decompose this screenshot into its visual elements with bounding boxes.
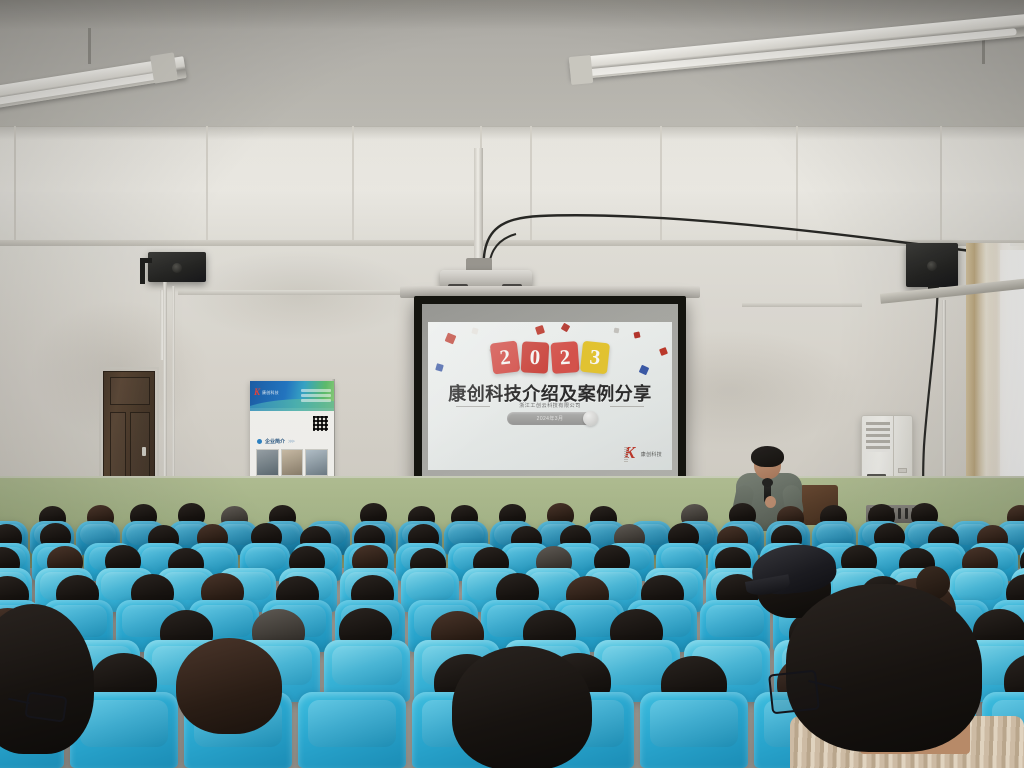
slide-logo-text: 康创科技: [641, 451, 662, 458]
soffit-seam: [352, 126, 354, 246]
slide-pill-knob: [583, 411, 598, 426]
speaker-cone-icon: [172, 263, 182, 273]
confetti-square-2: [535, 325, 545, 335]
banner-logo-text: 康创科技: [262, 390, 279, 396]
wall-conduit-horizontal: [178, 290, 428, 295]
presentation-slide: 2023 康创科技介绍及案例分享 浙江工创云科技有限公司 2024年3月 康创科…: [428, 322, 672, 470]
projection-screen-surface: 2023 康创科技介绍及案例分享 浙江工创云科技有限公司 2024年3月 康创科…: [422, 304, 678, 484]
soffit-seam: [206, 126, 208, 246]
slide-year-tiles: 2023: [492, 342, 609, 373]
wall-conduit-horizontal: [742, 302, 862, 307]
ac-control-button[interactable]: [898, 468, 907, 473]
year-tile-1: 0: [521, 341, 550, 373]
door-knob[interactable]: [142, 447, 146, 456]
subtitle-rule-right: [610, 406, 644, 407]
confetti-square-8: [435, 363, 444, 372]
light-end-cap: [150, 52, 178, 83]
microphone-head-icon: [762, 478, 773, 487]
presenter-hair: [751, 446, 784, 467]
speaker-bracket: [140, 258, 145, 284]
chevron-right-icon: >>>: [288, 439, 294, 445]
confetti-square-3: [561, 323, 571, 333]
banner-photo: [305, 449, 328, 476]
company-k-mark-icon: [624, 446, 639, 462]
light-end-cap: [569, 55, 594, 85]
door-panel: [110, 377, 150, 405]
banner-heading-text: 企业简介: [265, 438, 285, 445]
slide-date-pill: 2024年3月: [507, 412, 593, 425]
banner-photo-strip: [256, 449, 328, 476]
confetti-square-4: [614, 328, 620, 334]
confetti-square-6: [639, 365, 650, 376]
light-rod: [88, 28, 91, 64]
banner-k-mark-icon: K: [254, 388, 260, 397]
wall-speaker-right: [906, 243, 958, 287]
fluorescent-tube: [569, 14, 1024, 80]
auditorium-seat: [640, 692, 748, 768]
audience-head-mid-left: [176, 638, 282, 734]
eyeglasses-right: [768, 670, 820, 715]
subtitle-rule-left: [456, 406, 490, 407]
soffit-seam: [14, 126, 16, 246]
qr-code-icon: [312, 415, 329, 432]
banner-photo: [256, 449, 279, 476]
auditorium-photo: 2023 康创科技介绍及案例分享 浙江工创云科技有限公司 2024年3月 康创科…: [0, 0, 1024, 768]
audience-head-foreground-center: [452, 646, 592, 768]
speaker-cone-icon: [927, 261, 937, 271]
ac-vent-grill: [866, 422, 890, 452]
bullet-icon: [257, 439, 262, 444]
wall-blemish: [180, 250, 420, 340]
soffit-shading: [0, 126, 1024, 140]
eyeglasses-left: [24, 691, 67, 722]
audience-head-foreground-right: [786, 584, 982, 752]
confetti-square-7: [659, 347, 668, 356]
banner-logo: K 康创科技: [254, 388, 279, 397]
presenter-hand: [765, 496, 776, 508]
year-tile-0: 2: [490, 340, 521, 374]
ceiling-light-left: [0, 28, 200, 98]
year-tile-3: 3: [580, 341, 610, 375]
banner-photo: [281, 449, 304, 476]
slide-company-logo: 康创科技: [624, 446, 662, 462]
wall-speaker-left: [148, 252, 206, 282]
confetti-square-0: [445, 333, 457, 345]
confetti-square-5: [633, 331, 640, 338]
banner-header-bars: [301, 389, 331, 404]
banner-header: K 康创科技: [250, 381, 334, 408]
banner-section-heading: 企业简介 >>>: [257, 438, 294, 445]
slide-date-text: 2024年3月: [537, 415, 564, 422]
year-tile-2: 2: [550, 341, 579, 374]
ceiling-light-right: [570, 20, 1024, 110]
auditorium-seat: [298, 692, 406, 768]
projection-screen-frame: 2023 康创科技介绍及案例分享 浙江工创云科技有限公司 2024年3月 康创科…: [414, 296, 686, 492]
confetti-square-1: [471, 327, 478, 334]
